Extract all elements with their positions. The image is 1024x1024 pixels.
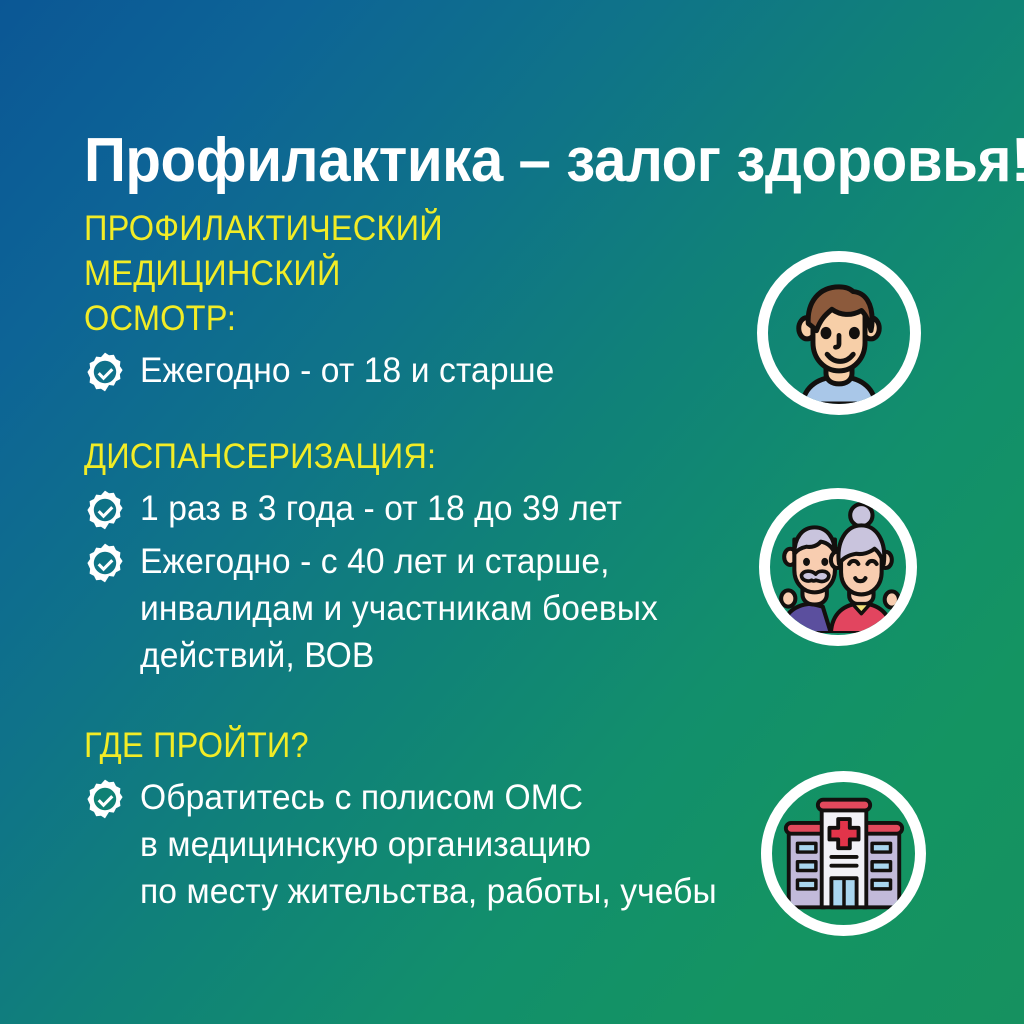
- section-heading: ДИСПАНСЕРИЗАЦИЯ:: [84, 434, 698, 479]
- list-item-label: Ежегодно - от 18 и старше: [140, 347, 554, 394]
- list-item-label: 1 раз в 3 года - от 18 до 39 лет: [140, 485, 622, 532]
- section-where-to-go: ГДЕ ПРОЙТИ? Обратитесь с полисом ОМС в м…: [84, 723, 744, 915]
- section-heading: ГДЕ ПРОЙТИ?: [84, 723, 698, 768]
- check-badge-icon: [84, 351, 126, 393]
- list-item: 1 раз в 3 года - от 18 до 39 лет: [84, 485, 744, 532]
- list-item: Ежегодно - с 40 лет и старше, инвалидам …: [84, 538, 744, 679]
- list-item-label: Ежегодно - с 40 лет и старше, инвалидам …: [140, 538, 658, 679]
- list-item: Обратитесь с полисом ОМС в медицинскую о…: [84, 774, 744, 915]
- list-item-label: Обратитесь с полисом ОМС в медицинскую о…: [140, 774, 717, 915]
- list-item: Ежегодно - от 18 и старше: [84, 347, 744, 394]
- spacer: [84, 394, 744, 434]
- elderly-couple-icon: [759, 488, 917, 646]
- section-medical-checkup: ПРОФИЛАКТИЧЕСКИЙ МЕДИЦИНСКИЙ ОСМОТР:: [84, 206, 744, 394]
- check-badge-icon: [84, 542, 126, 584]
- hospital-building-icon: [761, 771, 926, 936]
- content-column: ПРОФИЛАКТИЧЕСКИЙ МЕДИЦИНСКИЙ ОСМОТР:: [84, 206, 744, 915]
- young-person-avatar-icon: [757, 251, 921, 415]
- poster-canvas: Профилактика – залог здоровья! ПРОФИЛАКТ…: [0, 0, 1024, 1024]
- check-badge-icon: [84, 489, 126, 531]
- section-dispanserizatsiya: ДИСПАНСЕРИЗАЦИЯ: 1 раз в 3 года - от 18 …: [84, 434, 744, 679]
- check-badge-icon: [84, 778, 126, 820]
- section-heading: ПРОФИЛАКТИЧЕСКИЙ МЕДИЦИНСКИЙ ОСМОТР:: [84, 206, 698, 341]
- spacer: [84, 679, 744, 723]
- page-title: Профилактика – залог здоровья!: [84, 128, 911, 194]
